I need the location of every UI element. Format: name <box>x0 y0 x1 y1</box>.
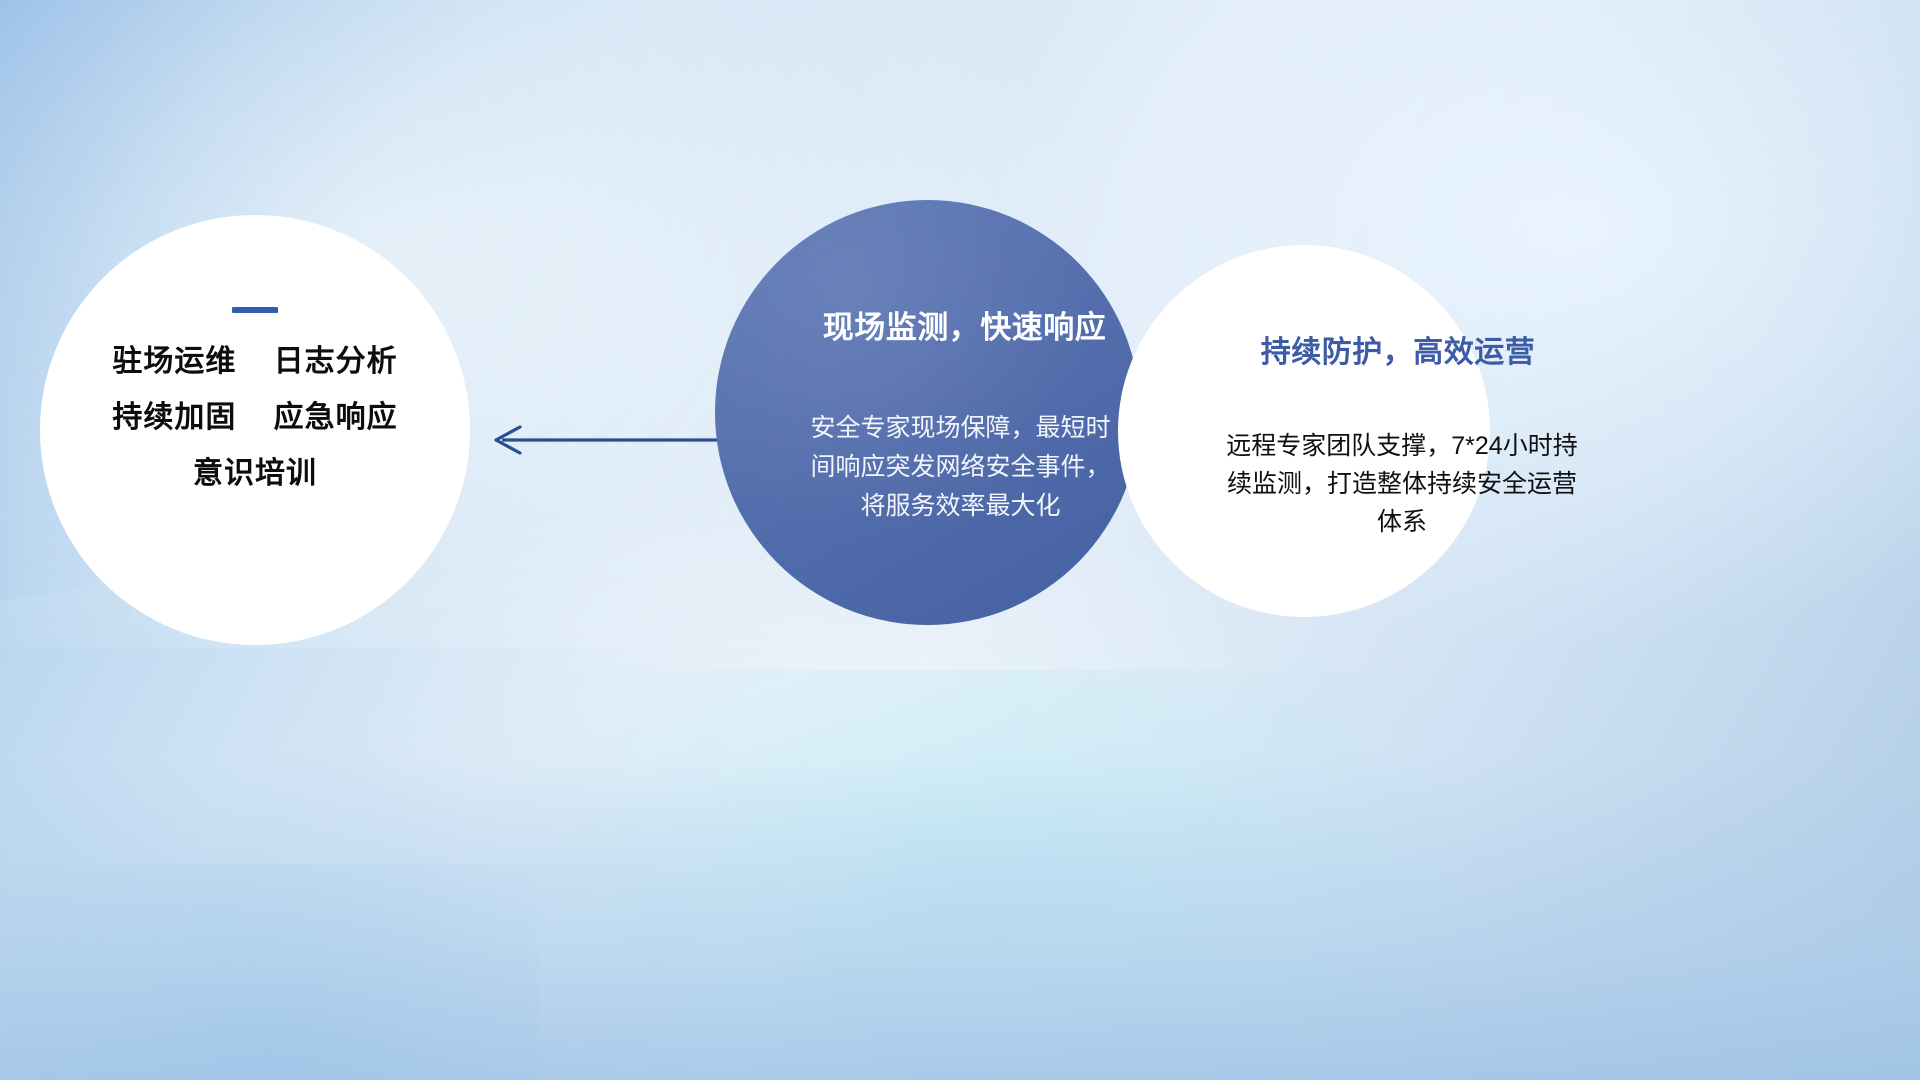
left-keyword-row: 意识培训 <box>40 459 470 489</box>
left-keyword-list: 驻场运维 日志分析 持续加固 应急响应 意识培训 <box>40 347 470 489</box>
middle-onsite-circle: 现场监测，快速响应 安全专家现场保障，最短时间响应突发网络安全事件，将服务效率最… <box>715 200 1140 625</box>
left-keyword-row: 持续加固 应急响应 <box>40 403 470 433</box>
right-circle-title: 持续防护，高效运营 <box>1261 327 1536 371</box>
right-circle-body: 远程专家团队支撑，7*24小时持续监测，打造整体持续安全运营体系 <box>1217 427 1587 541</box>
flow-arrow-left <box>480 415 720 465</box>
left-keyword-row: 驻场运维 日志分析 <box>40 347 470 377</box>
middle-circle-content: 现场监测，快速响应 安全专家现场保障，最短时间响应突发网络安全事件，将服务效率最… <box>715 200 1140 625</box>
left-capability-circle: 驻场运维 日志分析 持续加固 应急响应 意识培训 <box>40 215 470 645</box>
background-bottom-band <box>0 756 1920 1080</box>
divider-dash <box>232 307 278 313</box>
middle-circle-body: 安全专家现场保障，最短时间响应突发网络安全事件，将服务效率最大化 <box>802 409 1120 525</box>
middle-circle-title: 现场监测，快速响应 <box>823 302 1107 347</box>
right-circle-content: 持续防护，高效运营 远程专家团队支撑，7*24小时持续监测，打造整体持续安全运营… <box>1118 245 1490 617</box>
